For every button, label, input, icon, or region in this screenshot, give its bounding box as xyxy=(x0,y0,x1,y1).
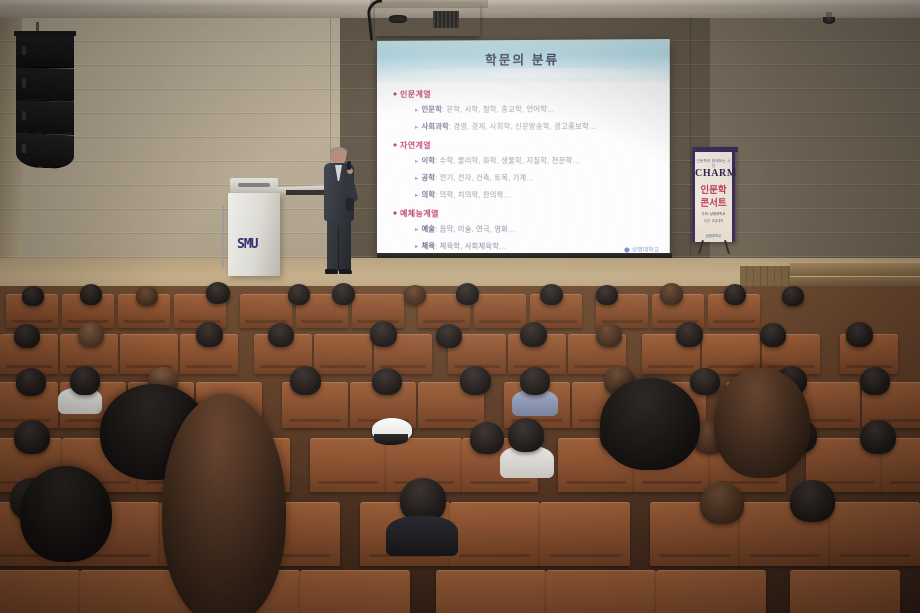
audience-head-foreground xyxy=(714,368,810,478)
auditorium-photo: 학문의 분류 인문계열 ▸인문학: 문학, 사학, 철학, 종교학, 언어학… … xyxy=(0,0,920,613)
presenter xyxy=(322,148,356,276)
audience-head-foreground xyxy=(600,378,700,470)
audience-head xyxy=(470,422,504,454)
slide-sub-item: ▸인문학: 문학, 사학, 철학, 종교학, 언어학… xyxy=(393,101,662,119)
audience-head xyxy=(660,283,683,305)
audience-head xyxy=(268,323,294,347)
seat xyxy=(540,502,630,566)
audience-head xyxy=(22,286,44,306)
baseball-cap xyxy=(372,418,412,441)
seat xyxy=(450,502,540,566)
seat xyxy=(702,334,760,374)
audience-head xyxy=(206,282,230,304)
seat xyxy=(310,438,386,492)
speaker-module xyxy=(16,36,74,68)
audience-head xyxy=(136,286,158,306)
seat xyxy=(656,570,766,613)
audience-head xyxy=(760,323,786,347)
slide-body: 인문계열 ▸인문학: 문학, 사학, 철학, 종교학, 언어학… ▸사회과학: … xyxy=(393,86,662,259)
audience-head xyxy=(782,286,804,306)
audience-head xyxy=(288,284,310,305)
cap-brim xyxy=(374,434,408,445)
banner-title: CHARM xyxy=(695,168,732,179)
banner-meta-organizer: 주관: 교양대학 xyxy=(695,218,732,223)
banner-top-rail xyxy=(695,147,738,152)
speaker-module xyxy=(16,132,74,169)
speaker-module xyxy=(16,100,74,135)
projector-vent xyxy=(433,11,459,28)
audience-head xyxy=(78,322,104,347)
bullet-diamond-icon xyxy=(393,92,397,96)
audience-head xyxy=(404,285,426,305)
audience-head xyxy=(16,368,46,396)
presentation-slide: 학문의 분류 인문계열 ▸인문학: 문학, 사학, 철학, 종교학, 언어학… … xyxy=(377,39,670,261)
slide-section: 자연계열 ▸이학: 수학, 물리학, 화학, 생물학, 지질학, 천문학… ▸공… xyxy=(393,138,662,205)
audience-head xyxy=(676,322,703,347)
audience-head xyxy=(846,322,873,347)
presenter-shoe xyxy=(325,269,338,274)
audience-head xyxy=(540,284,563,305)
audience-head xyxy=(520,322,547,347)
audience-head xyxy=(508,418,544,452)
presenter-leg-seam xyxy=(338,226,339,268)
audience-head xyxy=(520,367,550,395)
audience-head xyxy=(70,366,100,395)
audience-head xyxy=(372,368,402,395)
audience-head xyxy=(436,324,462,348)
podium-body: SMU xyxy=(228,193,280,276)
dome-security-camera xyxy=(823,12,835,23)
audience-head xyxy=(690,368,720,395)
slide-title: 학문의 분류 xyxy=(377,48,670,69)
slide-section-heading: 인문계열 xyxy=(393,86,662,102)
seat xyxy=(474,294,526,328)
wall-seam xyxy=(690,18,691,286)
presenter-pouch xyxy=(346,198,354,211)
audience-head-foreground xyxy=(162,394,286,613)
slide-section-heading: 예체능계열 xyxy=(393,206,662,222)
audience-head xyxy=(370,321,397,347)
arrow-icon: ▸ xyxy=(415,192,418,199)
banner-face: 인문학과 함께하는 시간 CHARM 인문학 콘서트 주최: 상명대학교 주관:… xyxy=(692,147,735,242)
audience-head xyxy=(14,420,50,454)
slide-sub-item: ▸공학: 전기, 전자, 건축, 토목, 기계… xyxy=(393,170,662,188)
stage-step xyxy=(790,262,920,276)
banner-footer-logo: 상명대학교 xyxy=(695,233,732,238)
speaker-module xyxy=(16,67,74,101)
slide-sub-item: ▸이학: 수학, 물리학, 화학, 생물학, 지질학, 천문학… xyxy=(393,153,662,170)
seat xyxy=(546,570,656,613)
seat xyxy=(314,334,372,374)
slide-sub-item: ▸예술: 음악, 미술, 연극, 영화… xyxy=(393,221,662,239)
slide-sub-item: ▸의학: 의학, 치의학, 한의학… xyxy=(393,187,662,205)
audience-head xyxy=(596,285,618,305)
university-logo-icon xyxy=(625,247,630,252)
handheld-microphone xyxy=(347,161,351,170)
audience-head xyxy=(460,366,491,395)
lectern-podium: SMU xyxy=(228,178,280,276)
audience-head xyxy=(196,322,223,347)
presenter-trousers xyxy=(327,219,351,271)
arrow-icon: ▸ xyxy=(415,158,418,165)
line-array-speaker xyxy=(14,22,76,170)
seat xyxy=(830,502,920,566)
arrow-icon: ▸ xyxy=(415,243,418,250)
arrow-icon: ▸ xyxy=(415,226,418,233)
podium-leg xyxy=(222,206,228,268)
banner-line-2: 콘서트 xyxy=(695,195,732,209)
seat xyxy=(300,570,410,613)
slide-section-heading: 자연계열 xyxy=(393,138,662,153)
camera-dome xyxy=(823,17,835,24)
banner-meta-host: 주최: 상명대학교 xyxy=(695,211,732,216)
audience-head xyxy=(700,482,744,524)
audience-head xyxy=(860,367,890,395)
audience-head xyxy=(332,283,355,305)
seat xyxy=(436,570,546,613)
audience-head xyxy=(456,283,479,305)
audience-head-foreground xyxy=(20,466,112,562)
audience-shoulders xyxy=(386,516,458,556)
arrow-icon: ▸ xyxy=(415,124,418,131)
bullet-diamond-icon xyxy=(393,143,397,147)
audience-head xyxy=(860,420,896,454)
arrow-icon: ▸ xyxy=(415,175,418,182)
seat xyxy=(0,570,80,613)
audience-seating: 動産學科 xyxy=(0,286,920,613)
banner-stand-legs xyxy=(700,240,728,254)
bullet-diamond-icon xyxy=(393,211,397,215)
audience-head xyxy=(290,366,321,395)
audience-head xyxy=(790,480,835,522)
projection-screen: 학문의 분류 인문계열 ▸인문학: 문학, 사학, 철학, 종교학, 언어학… … xyxy=(377,39,670,261)
banner-line-1: 인문학 xyxy=(695,182,732,196)
podium-top xyxy=(230,178,278,194)
audience-head xyxy=(80,284,102,305)
seat xyxy=(790,570,900,613)
presenter-shoe xyxy=(339,269,352,274)
podium-logo: SMU xyxy=(237,237,257,252)
ceiling-projector xyxy=(375,4,480,36)
audience-head xyxy=(596,323,622,347)
projector-lens xyxy=(389,15,407,23)
rollup-banner: 인문학과 함께하는 시간 CHARM 인문학 콘서트 주최: 상명대학교 주관:… xyxy=(692,147,735,254)
arrow-icon: ▸ xyxy=(415,107,418,114)
audience-head xyxy=(14,324,40,348)
slide-sub-item: ▸사회과학: 경영, 경제, 사회학, 신문방송학, 광고홍보학… xyxy=(393,118,662,136)
slide-section: 예체능계열 ▸예술: 음악, 미술, 연극, 영화… ▸체육: 체육학, 사회체… xyxy=(393,206,662,257)
slide-section: 인문계열 ▸인문학: 문학, 사학, 철학, 종교학, 언어학… ▸사회과학: … xyxy=(393,86,662,136)
audience-head xyxy=(724,284,746,305)
podium-slot xyxy=(238,183,270,187)
